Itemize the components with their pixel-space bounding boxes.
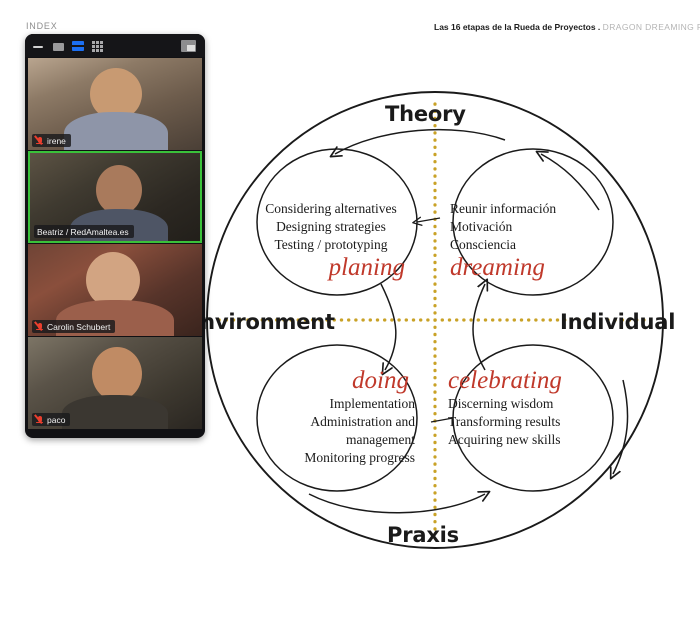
avatar (92, 347, 142, 401)
quadrant-planing-line-2: Designing strategies (251, 218, 411, 236)
participant-tile[interactable]: irene (28, 58, 202, 150)
quadrant-dreaming-line-2: Motivación (450, 218, 610, 236)
quadrant-doing-line-4: Monitoring progress (265, 449, 415, 467)
quadrant-celebrating-line-1: Discerning wisdom (448, 395, 613, 413)
flow-arrow-planing-to-doing (381, 284, 396, 370)
quadrant-doing-line-3: management (265, 431, 415, 449)
participant-tile[interactable]: Beatriz / RedAmaltea.es (28, 151, 202, 243)
quadrant-celebrating-line-3: Acquiring new skills (448, 431, 613, 449)
quadrant-doing-line-1: Implementation (265, 395, 415, 413)
flow-arrow-dreaming-to-planing (335, 130, 505, 154)
video-conference-panel[interactable]: irene Beatriz / RedAmaltea.es Carolin Sc… (25, 34, 205, 438)
quadrant-dreaming-name: dreaming (450, 255, 610, 281)
quadrant-planing-line-3: Testing / prototyping (251, 236, 411, 254)
quadrant-celebrating-name: celebrating (448, 368, 613, 394)
axis-label-praxis: Praxis (387, 523, 459, 547)
quadrant-doing-name: doing (265, 368, 415, 394)
avatar-body (64, 112, 168, 150)
participant-name-badge: irene (32, 134, 71, 147)
minimize-icon[interactable] (32, 40, 45, 51)
microphone-muted-icon (35, 322, 44, 332)
participant-name: Beatriz / RedAmaltea.es (37, 227, 129, 237)
slide-header-subtitle: DRAGON DREAMING PROJECT (603, 22, 700, 32)
flow-arrow-doing-to-celebrating (309, 494, 485, 513)
quadrant-doing: doing Implementation Administration and … (265, 368, 415, 467)
microphone-muted-icon (35, 415, 44, 425)
connector-tick-planing (417, 218, 440, 222)
speaker-view-icon[interactable] (72, 41, 84, 51)
participant-name: Carolin Schubert (47, 322, 110, 332)
picture-in-picture-icon[interactable] (181, 40, 196, 52)
participant-name: irene (47, 136, 66, 146)
participant-name-badge: paco (32, 413, 70, 426)
axis-label-individual: Individual (560, 310, 675, 334)
slide-header-title: Las 16 etapas de la Rueda de Proyectos . (434, 22, 600, 32)
slide-index-label: INDEX (26, 21, 58, 31)
video-panel-toolbar[interactable] (25, 34, 205, 57)
quadrant-doing-line-2: Administration and (265, 413, 415, 431)
quadrant-planing-name: planing (251, 255, 411, 281)
slide-header: Las 16 etapas de la Rueda de Proyectos .… (434, 22, 700, 32)
participant-tile[interactable]: paco (28, 337, 202, 429)
quadrant-dreaming: Reunir información Motivación Conscienci… (450, 200, 610, 282)
single-view-icon[interactable] (53, 43, 64, 51)
dragon-dreaming-wheel-diagram: Theory Praxis Individual Environment Con… (185, 70, 685, 570)
participant-name: paco (47, 415, 65, 425)
quadrant-celebrating: celebrating Discerning wisdom Transformi… (448, 368, 613, 449)
axis-label-theory: Theory (385, 102, 466, 126)
participant-tile[interactable]: Carolin Schubert (28, 244, 202, 336)
flow-arrow-celebrating-to-dreaming (473, 284, 485, 370)
quadrant-dreaming-line-3: Consciencia (450, 236, 610, 254)
quadrant-dreaming-line-1: Reunir información (450, 200, 610, 218)
quadrant-planing-line-1: Considering alternatives (251, 200, 411, 218)
participant-name-badge: Carolin Schubert (32, 320, 115, 333)
microphone-muted-icon (35, 136, 44, 146)
quadrant-planing: Considering alternatives Designing strat… (251, 200, 411, 282)
gallery-view-icon[interactable] (92, 41, 103, 52)
avatar (96, 165, 142, 215)
participant-name-badge: Beatriz / RedAmaltea.es (34, 225, 134, 238)
participant-tile-list: irene Beatriz / RedAmaltea.es Carolin Sc… (25, 57, 205, 438)
avatar-body (62, 395, 168, 429)
quadrant-celebrating-line-2: Transforming results (448, 413, 613, 431)
axis-label-environment: Environment (186, 310, 335, 334)
